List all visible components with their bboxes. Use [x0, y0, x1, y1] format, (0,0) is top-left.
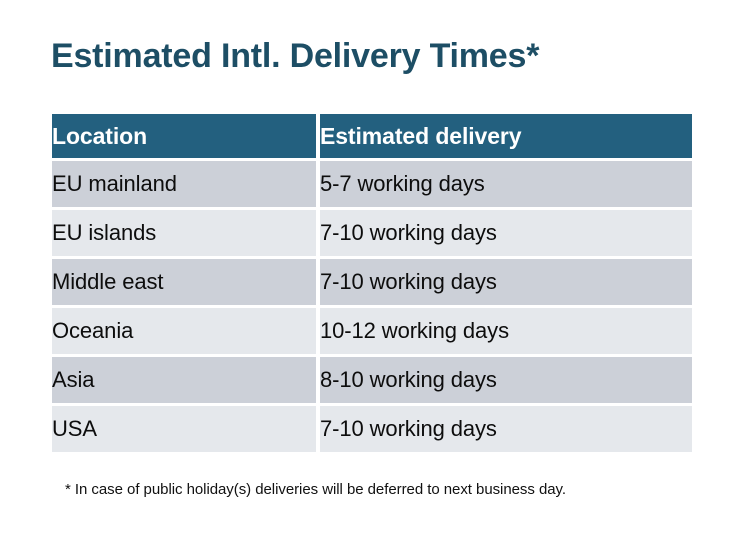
- column-header-location: Location: [52, 114, 316, 158]
- cell-location: USA: [52, 406, 316, 452]
- table-row: USA 7-10 working days: [52, 406, 692, 452]
- delivery-times-table: Location Estimated delivery EU mainland …: [52, 114, 692, 452]
- cell-estimated-delivery: 10-12 working days: [320, 308, 692, 354]
- table-row: Middle east 7-10 working days: [52, 259, 692, 305]
- table-header-row: Location Estimated delivery: [52, 114, 692, 158]
- cell-location: Middle east: [52, 259, 316, 305]
- table-row: EU islands 7-10 working days: [52, 210, 692, 256]
- cell-estimated-delivery: 7-10 working days: [320, 210, 692, 256]
- footnote-text: * In case of public holiday(s) deliverie…: [65, 481, 566, 498]
- table-body: EU mainland 5-7 working days EU islands …: [52, 158, 692, 452]
- page-title: Estimated Intl. Delivery Times*: [51, 35, 539, 77]
- cell-estimated-delivery: 7-10 working days: [320, 259, 692, 305]
- column-header-estimated-delivery: Estimated delivery: [320, 114, 692, 158]
- table-row: Oceania 10-12 working days: [52, 308, 692, 354]
- delivery-times-page: Estimated Intl. Delivery Times* Location…: [0, 0, 745, 536]
- table-header: Location Estimated delivery: [52, 114, 692, 158]
- cell-estimated-delivery: 7-10 working days: [320, 406, 692, 452]
- cell-estimated-delivery: 5-7 working days: [320, 161, 692, 207]
- table-row: Asia 8-10 working days: [52, 357, 692, 403]
- cell-location: EU mainland: [52, 161, 316, 207]
- table-row: EU mainland 5-7 working days: [52, 161, 692, 207]
- cell-location: Oceania: [52, 308, 316, 354]
- cell-location: Asia: [52, 357, 316, 403]
- cell-location: EU islands: [52, 210, 316, 256]
- cell-estimated-delivery: 8-10 working days: [320, 357, 692, 403]
